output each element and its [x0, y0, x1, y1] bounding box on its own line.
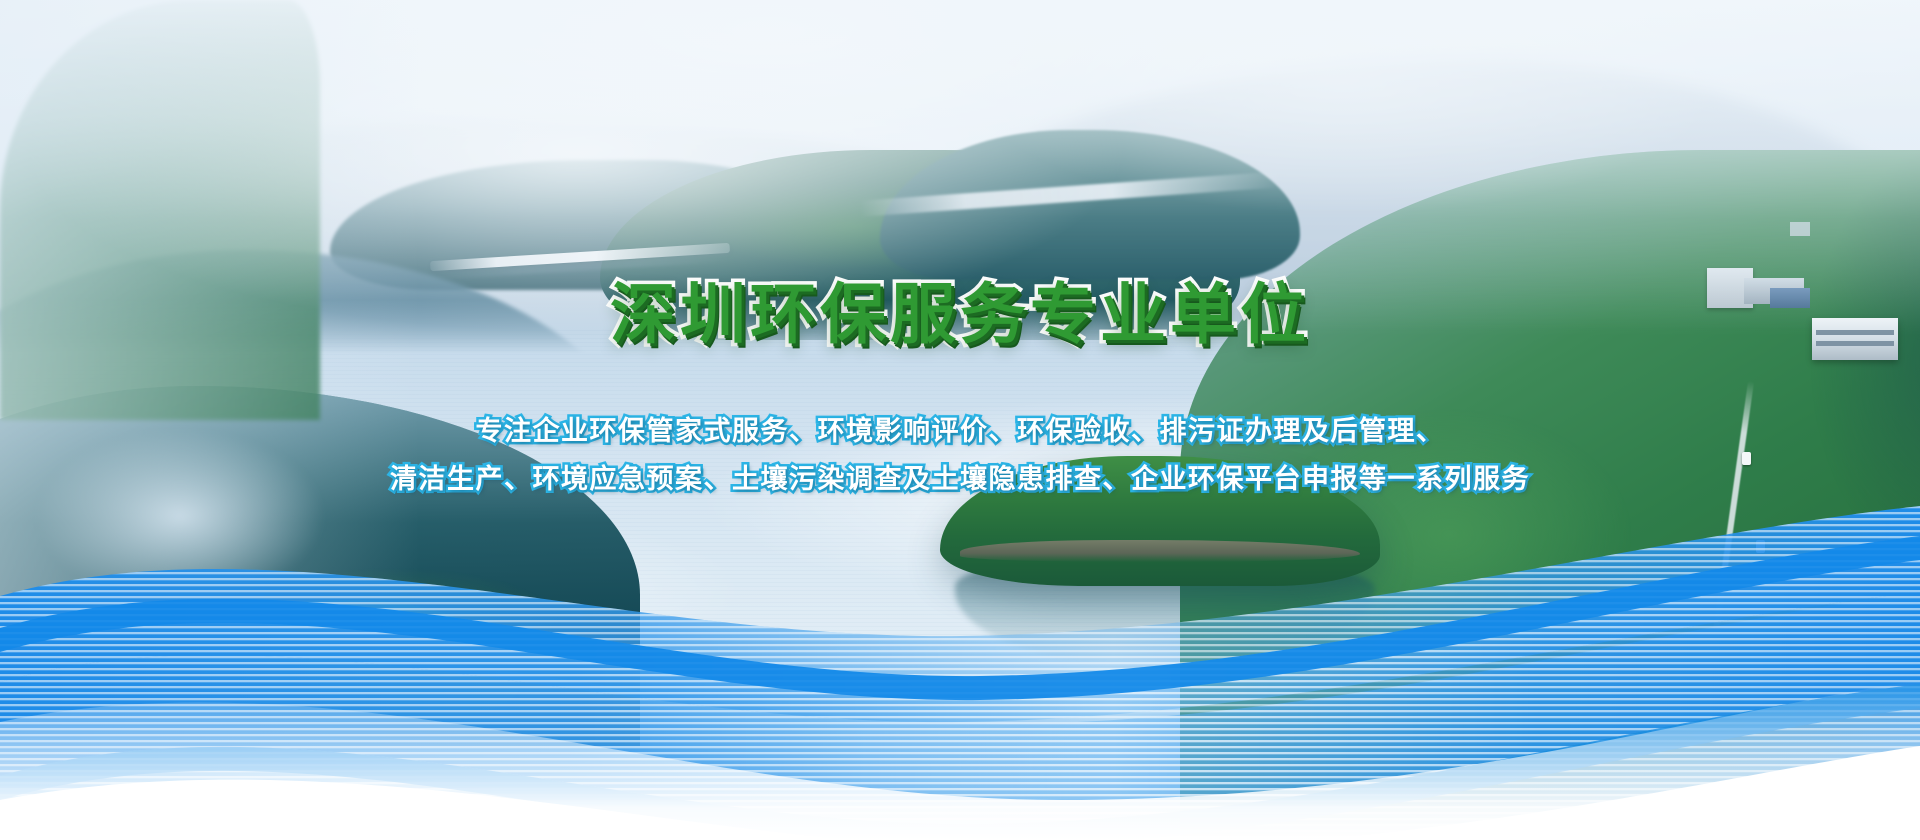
hero-banner: 深圳环保服务专业单位 专注企业环保管家式服务、环境影响评价、环保验收、排污证办理… — [0, 0, 1920, 840]
background-photo — [0, 0, 1920, 840]
hillside-building-3 — [1770, 288, 1810, 308]
car-icon — [1742, 452, 1751, 465]
hillside-building-5 — [1790, 222, 1810, 236]
car-icon — [1756, 540, 1765, 553]
island-shoreline — [960, 540, 1360, 562]
